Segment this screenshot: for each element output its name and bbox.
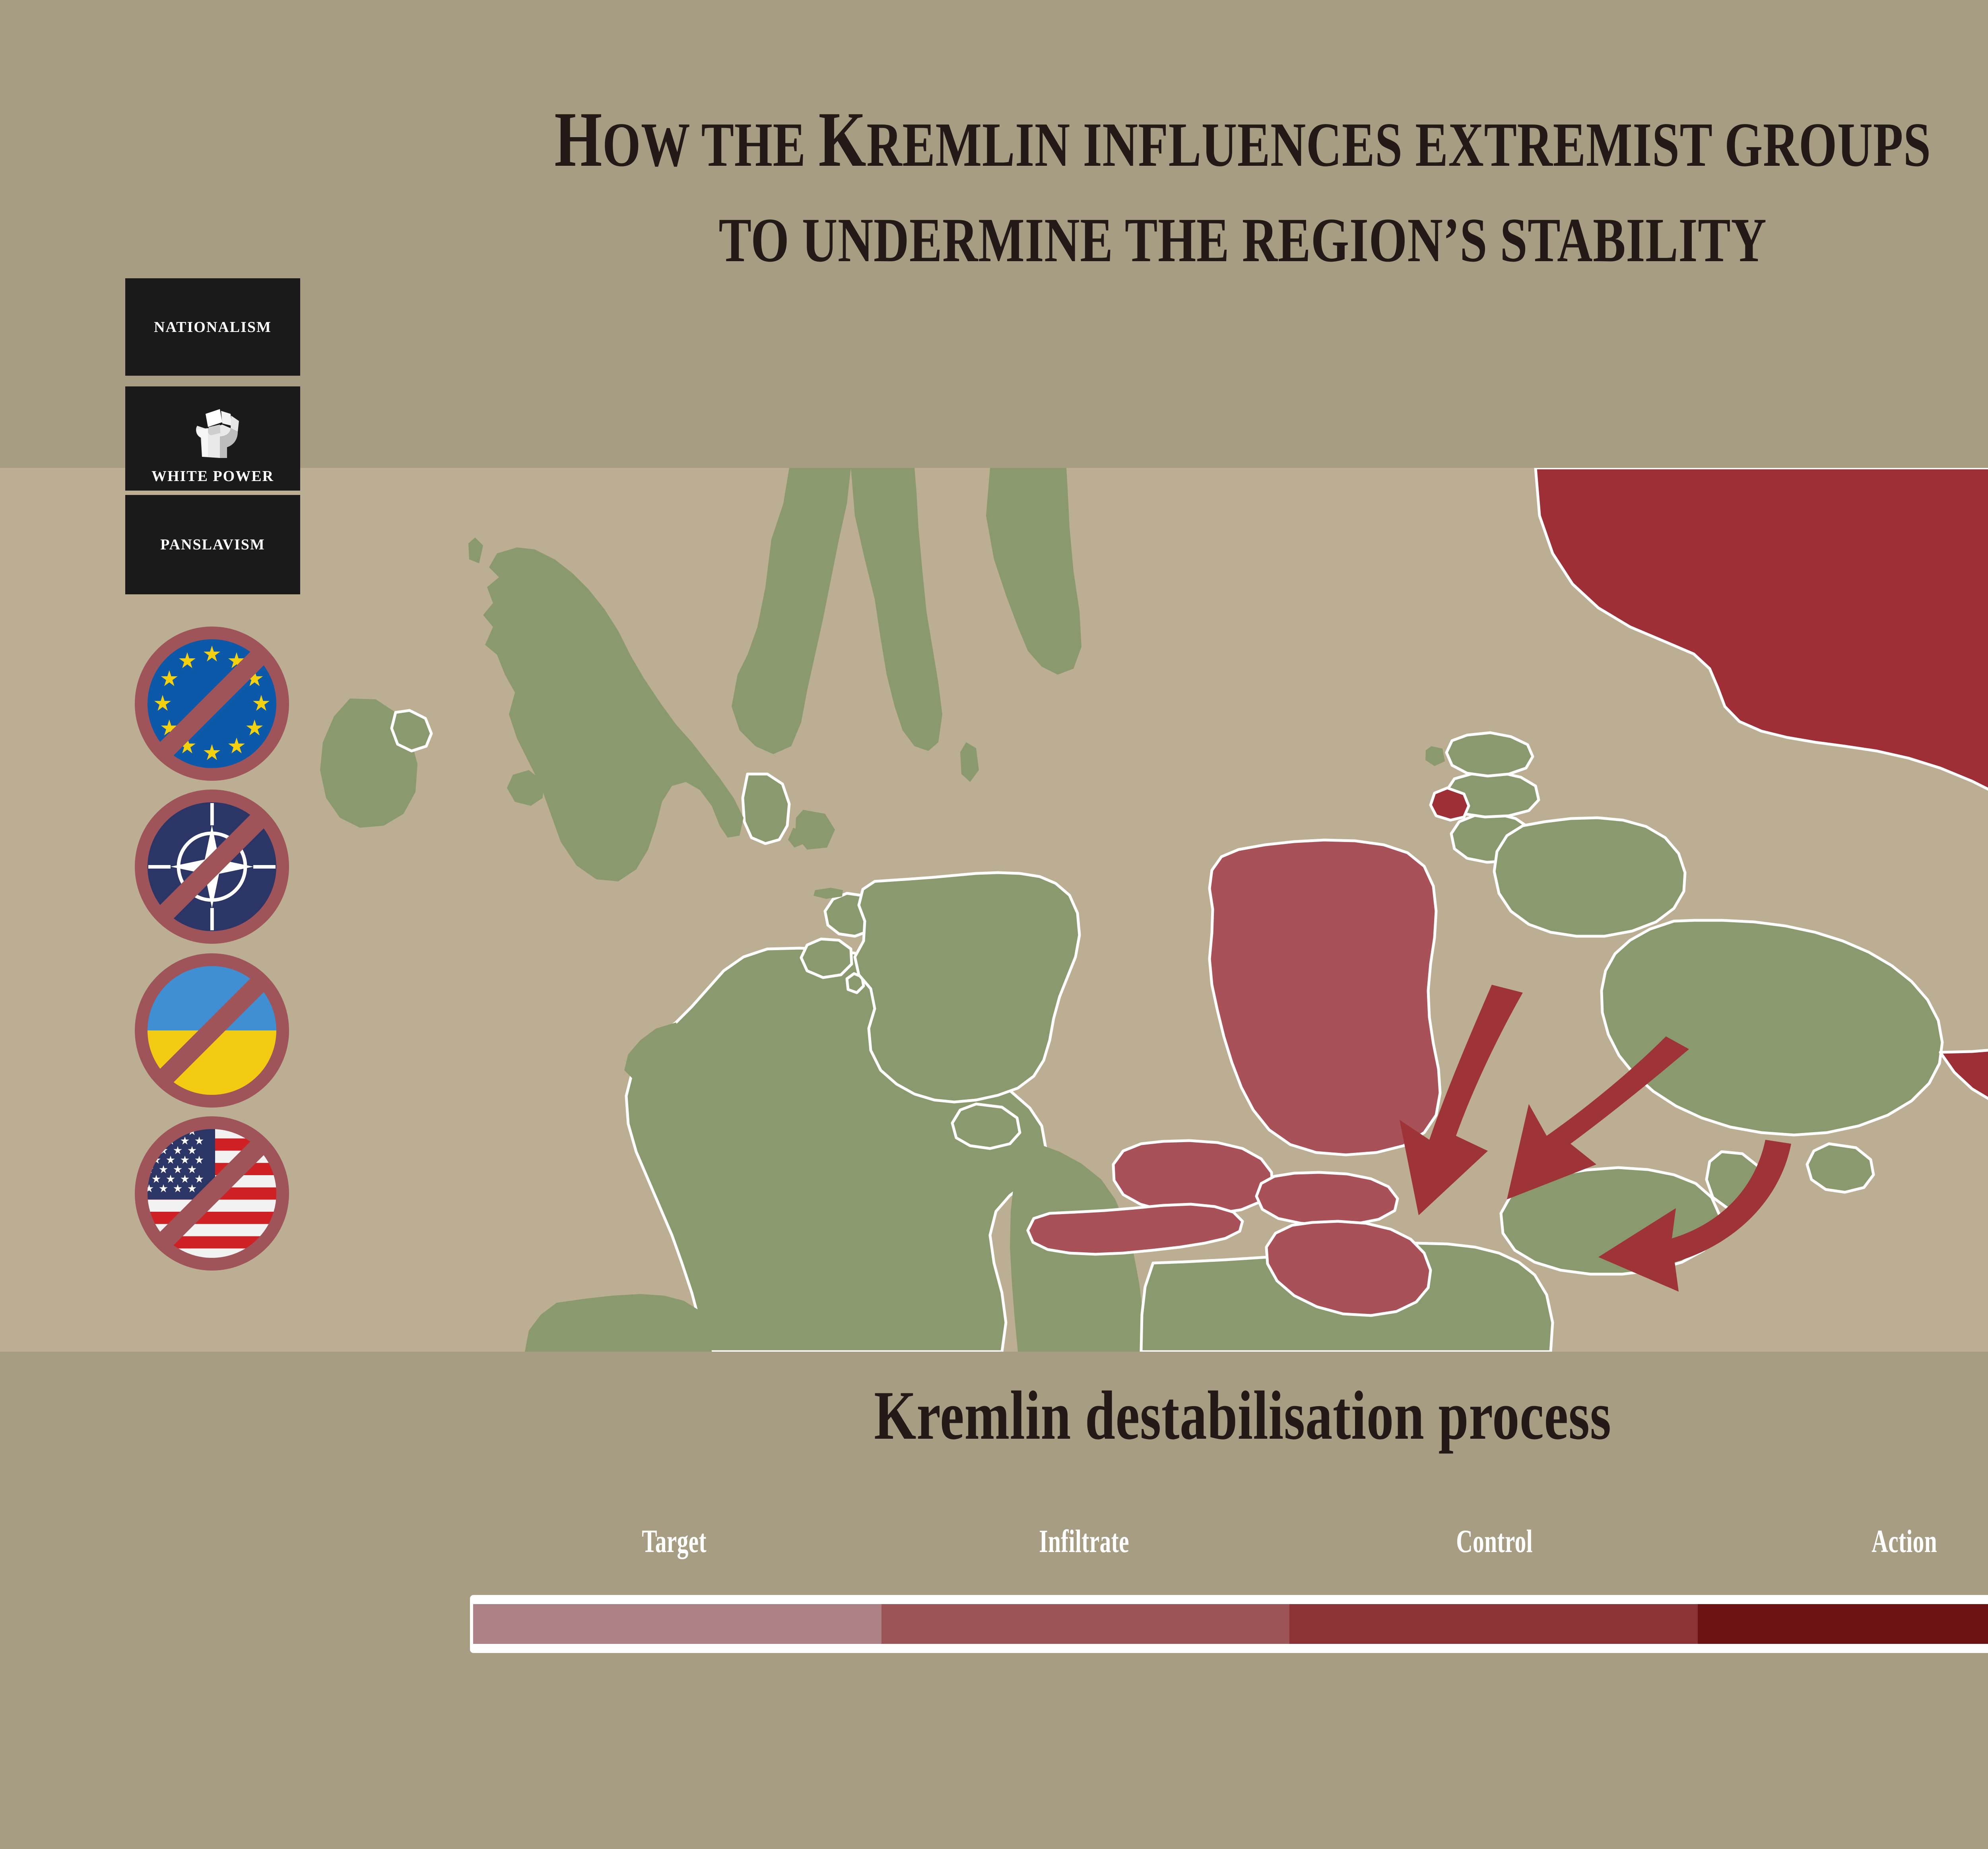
ukraine-flag-prohibited-icon — [132, 951, 291, 1110]
region-kaliningrad — [1431, 788, 1469, 820]
infographic-poster: .land{fill:#8a9a6e;stroke:#ffffff;stroke… — [0, 0, 1988, 1849]
country-denmark — [743, 774, 789, 844]
process-title: Kremlin destabilisation process — [274, 1376, 1988, 1455]
process-section: Kremlin destabilisation process Target I… — [0, 1352, 1988, 1849]
anti-eu-badge[interactable] — [132, 624, 291, 783]
process-bar-segment-target[interactable] — [473, 1604, 881, 1644]
eu-flag-prohibited-icon — [132, 624, 291, 783]
card-white-power[interactable]: WHITE POWER — [125, 386, 300, 491]
anti-usa-badge[interactable] — [132, 1114, 291, 1273]
stage-label-action: Action — [1761, 1523, 1988, 1560]
country-belgium — [801, 939, 852, 978]
map-svg: .land{fill:#8a9a6e;stroke:#ffffff;stroke… — [0, 468, 1988, 1352]
card-nationalism-label: NATIONALISM — [154, 318, 272, 336]
usa-flag-prohibited-icon — [132, 1114, 291, 1273]
stage-label-control: Control — [1351, 1523, 1638, 1560]
process-bar-frame — [470, 1595, 1988, 1653]
stage-label-infiltrate: Infiltrate — [941, 1523, 1228, 1560]
country-belarus — [1494, 818, 1685, 936]
anti-ukraine-badge[interactable] — [132, 951, 291, 1110]
card-nationalism[interactable]: NATIONALISM — [125, 278, 300, 376]
process-bar-segment-action[interactable] — [1698, 1604, 1988, 1644]
country-czechia — [1113, 1141, 1272, 1214]
process-bar-segment-infiltrate[interactable] — [881, 1604, 1290, 1644]
process-bar — [473, 1604, 1988, 1644]
anti-nato-badge[interactable] — [132, 787, 291, 946]
card-white-power-label: WHITE POWER — [151, 468, 274, 485]
europe-map: .land{fill:#8a9a6e;stroke:#ffffff;stroke… — [0, 468, 1988, 1352]
card-panslavism[interactable]: PANSLAVISM — [125, 495, 300, 594]
stage-label-target: Target — [531, 1523, 818, 1560]
raised-fist-icon — [183, 405, 243, 465]
country-slovakia — [1256, 1172, 1398, 1225]
process-bar-segment-control[interactable] — [1289, 1604, 1698, 1644]
process-stage-labels: Target Infiltrate Control Action — [469, 1523, 1988, 1560]
card-panslavism-label: PANSLAVISM — [160, 536, 265, 553]
nato-star-prohibited-icon — [132, 787, 291, 946]
